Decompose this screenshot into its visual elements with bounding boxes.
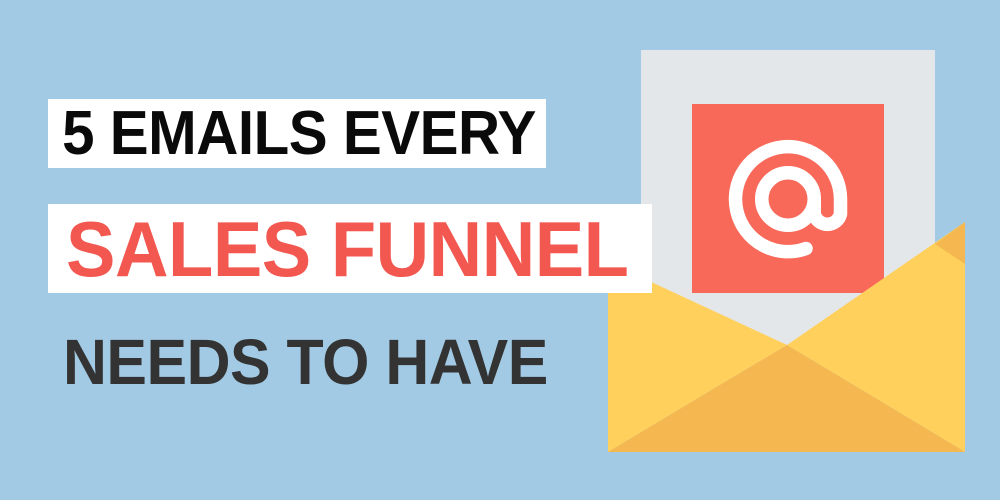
headline-line-2: SALES FUNNEL [48,210,628,288]
headline-line-3: NEEDS TO HAVE [63,330,548,394]
headline-line-1: 5 EMAILS EVERY [48,103,536,165]
poster-canvas: 5 EMAILS EVERY SALES FUNNEL NEEDS TO HAV… [0,0,1000,500]
open-envelope-with-email-letter [600,0,1000,500]
envelope [608,220,965,452]
headline-band-1: 5 EMAILS EVERY [48,99,546,168]
headline-band-2: SALES FUNNEL [48,204,652,293]
